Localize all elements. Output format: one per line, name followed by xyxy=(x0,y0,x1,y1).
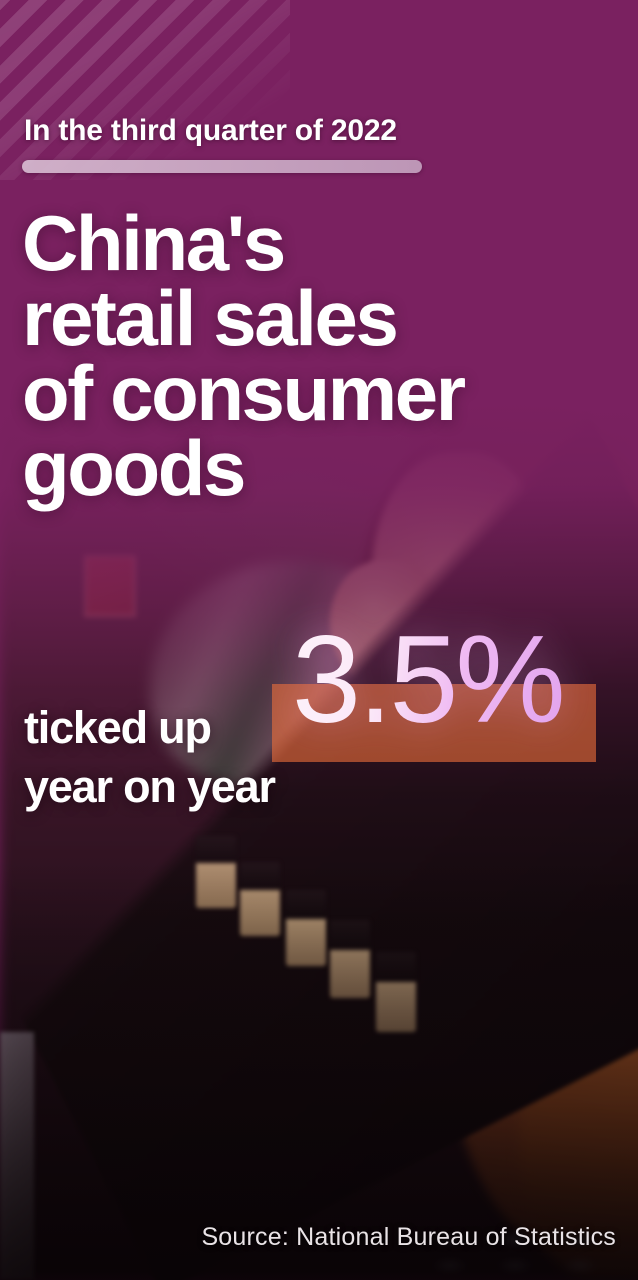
headline-line-1: China's xyxy=(22,206,622,281)
kicker-text: ticked up year on year xyxy=(24,698,275,817)
headline-line-3: of consumer xyxy=(22,356,622,431)
kicker-line-1: ticked up xyxy=(24,698,275,757)
page-title: China's retail sales of consumer goods xyxy=(22,206,622,506)
eyebrow-text: In the third quarter of 2022 xyxy=(24,115,397,147)
headline-line-2: retail sales xyxy=(22,281,622,356)
source-credit: Source: National Bureau of Statistics xyxy=(201,1223,616,1252)
kicker-line-2: year on year xyxy=(24,757,275,816)
statistic-value: 3.5% xyxy=(292,618,563,742)
eyebrow-underline-bar xyxy=(22,160,422,173)
statistic-block: ticked up year on year 3.5% xyxy=(0,626,638,826)
poster-content: In the third quarter of 2022 China's ret… xyxy=(0,0,638,1280)
infographic-poster: In the third quarter of 2022 China's ret… xyxy=(0,0,638,1280)
headline-line-4: goods xyxy=(22,431,622,506)
